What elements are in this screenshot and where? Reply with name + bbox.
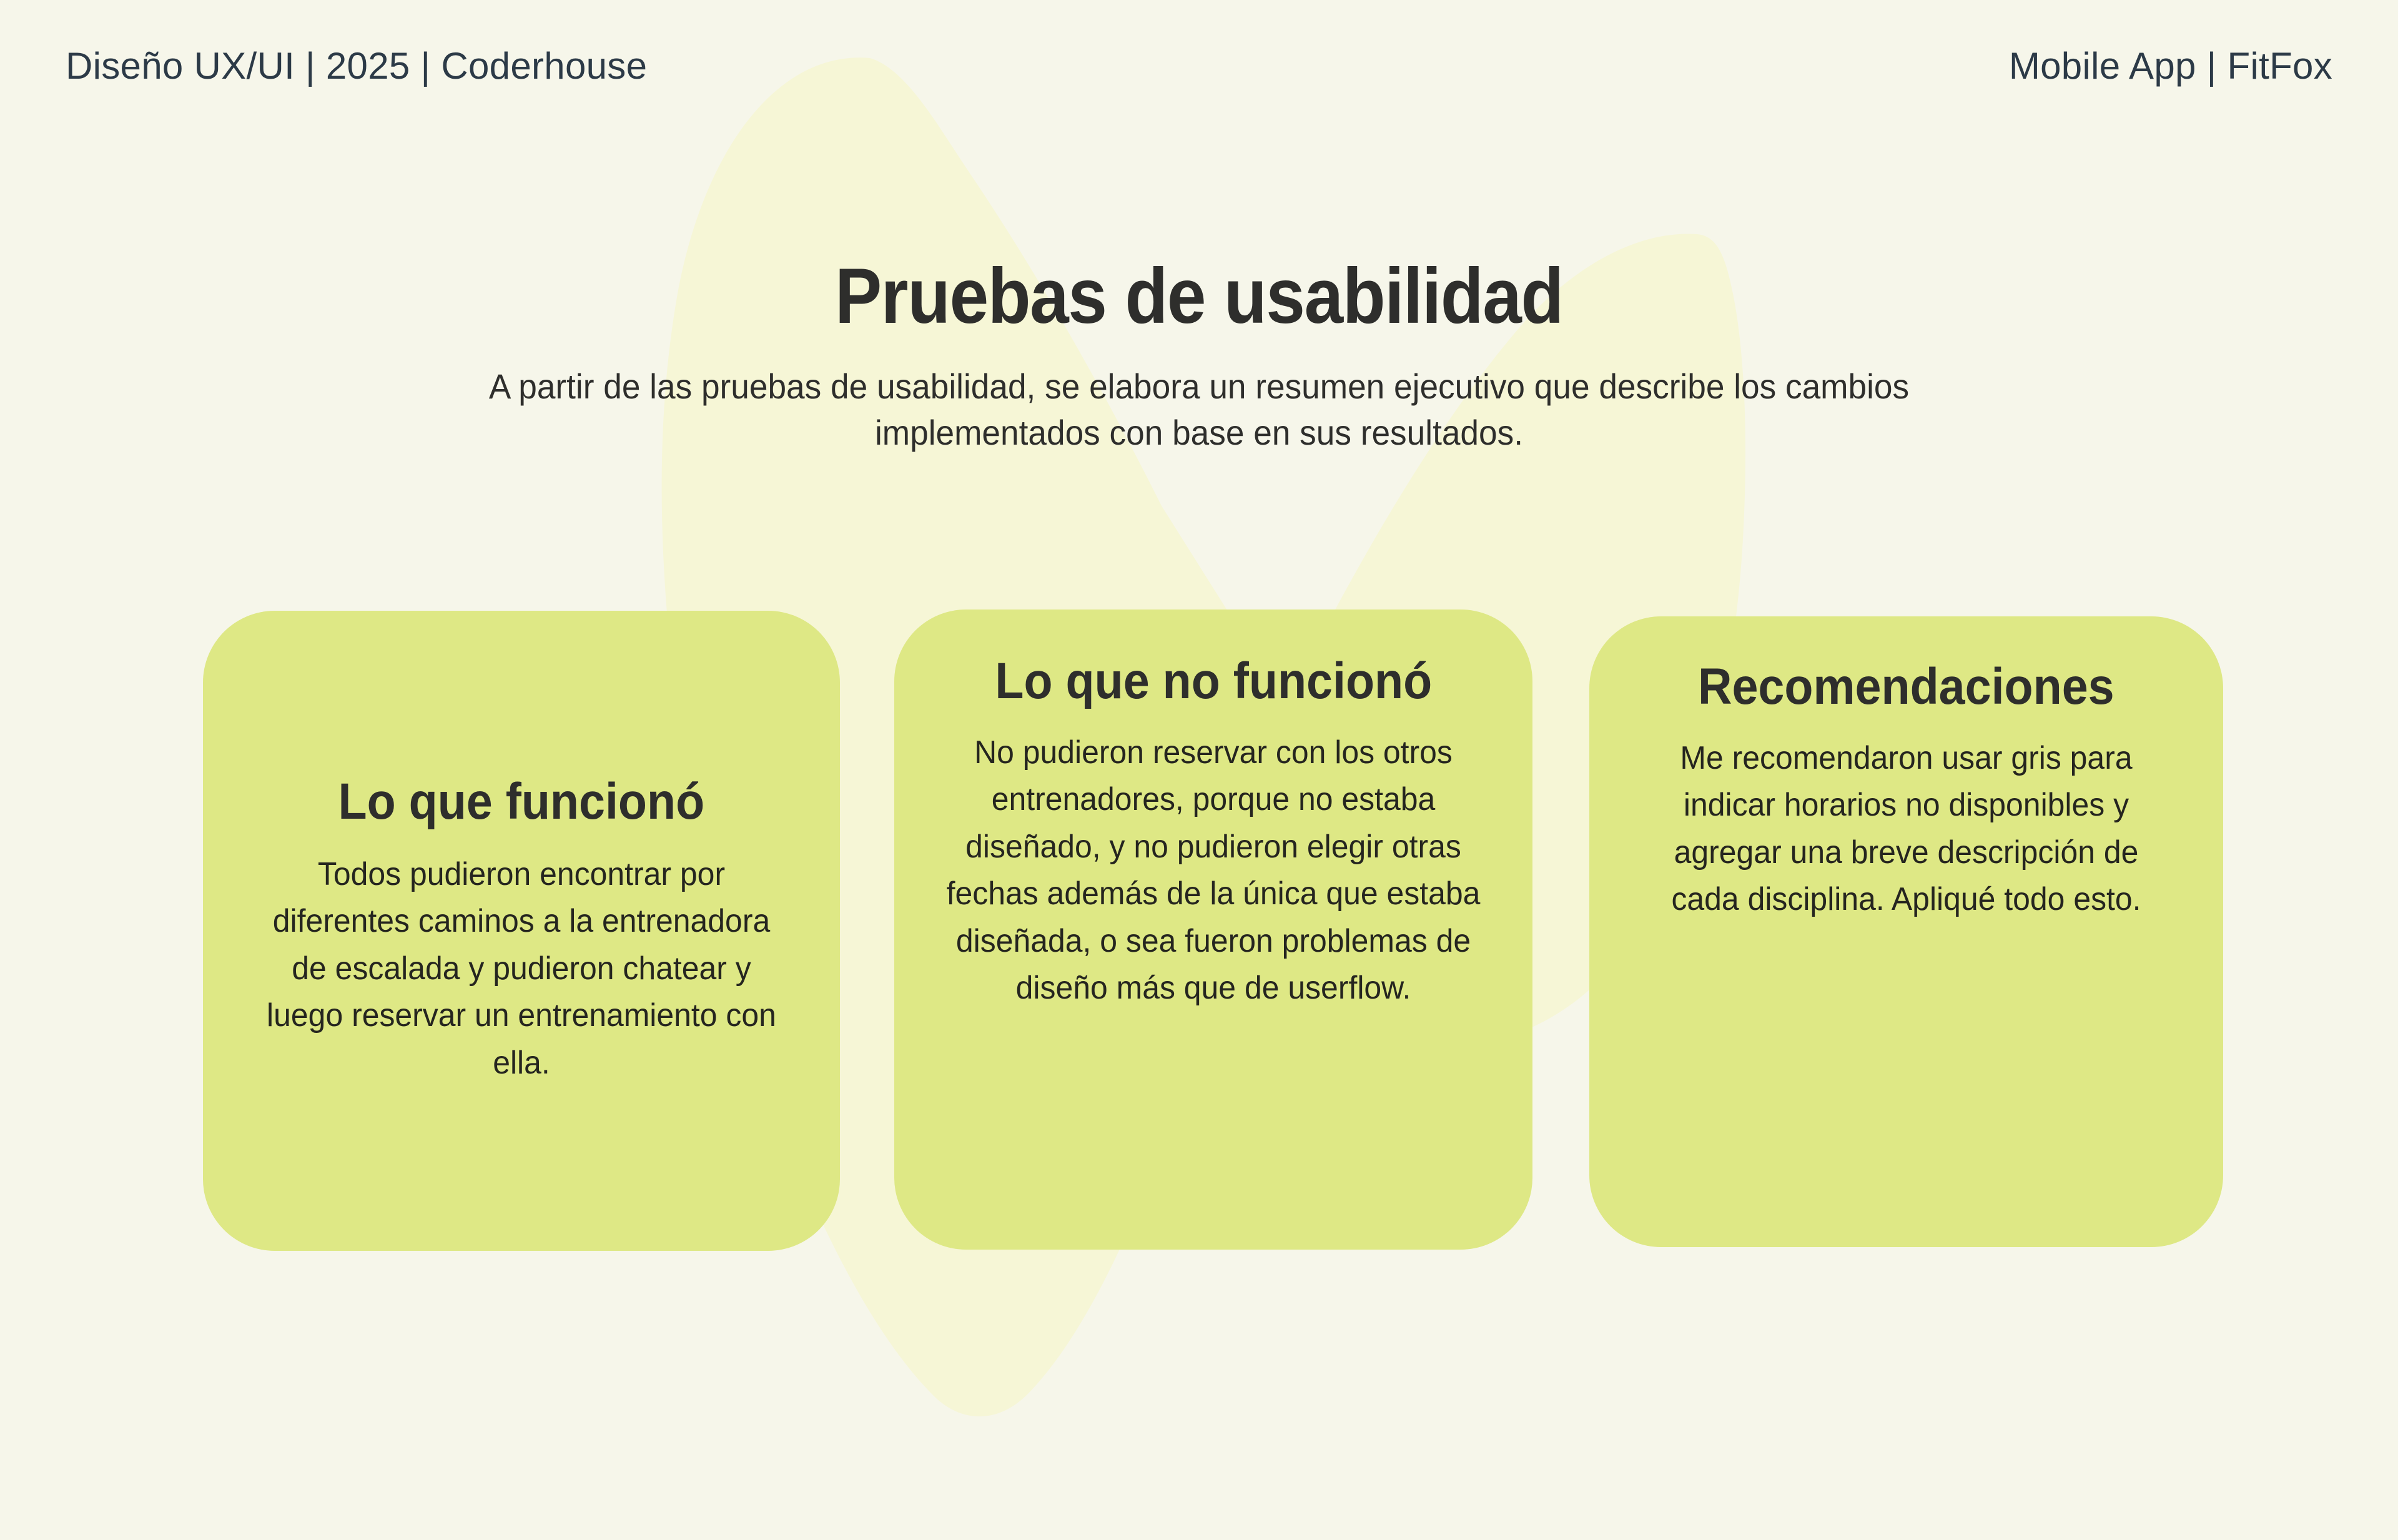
card-title: Lo que funcionó <box>338 775 705 829</box>
card-body: Todos pudieron encontrar por diferentes … <box>253 851 790 1087</box>
cards-row: Lo que funcionó Todos pudieron encontrar… <box>0 600 2398 1274</box>
card-lo-que-funciono: Lo que funcionó Todos pudieron encontrar… <box>203 611 840 1251</box>
card-recomendaciones: Recomendaciones Me recomendaron usar gri… <box>1589 616 2223 1247</box>
header-right-group: Mobile App | FitFox <box>2009 44 2332 87</box>
header-bar: Diseño UX/UI | 2025 | Coderhouse Mobile … <box>0 0 2398 131</box>
card-title: Lo que no funcionó <box>995 654 1432 708</box>
title-block: Pruebas de usabilidad A partir de las pr… <box>0 256 2398 457</box>
header-left-label: Diseño UX/UI | 2025 | Coderhouse <box>66 44 647 87</box>
card-body: Me recomendaron usar gris para indicar h… <box>1639 735 2173 924</box>
card-title: Recomendaciones <box>1698 660 2114 714</box>
header-right-label: Mobile App | FitFox <box>2009 44 2332 87</box>
card-lo-que-no-funciono: Lo que no funcionó No pudieron reservar … <box>894 610 1532 1250</box>
card-body: No pudieron reservar con los otros entre… <box>944 729 1483 1012</box>
page-title: Pruebas de usabilidad <box>120 256 2278 337</box>
page-subtitle: A partir de las pruebas de usabilidad, s… <box>458 363 1941 457</box>
